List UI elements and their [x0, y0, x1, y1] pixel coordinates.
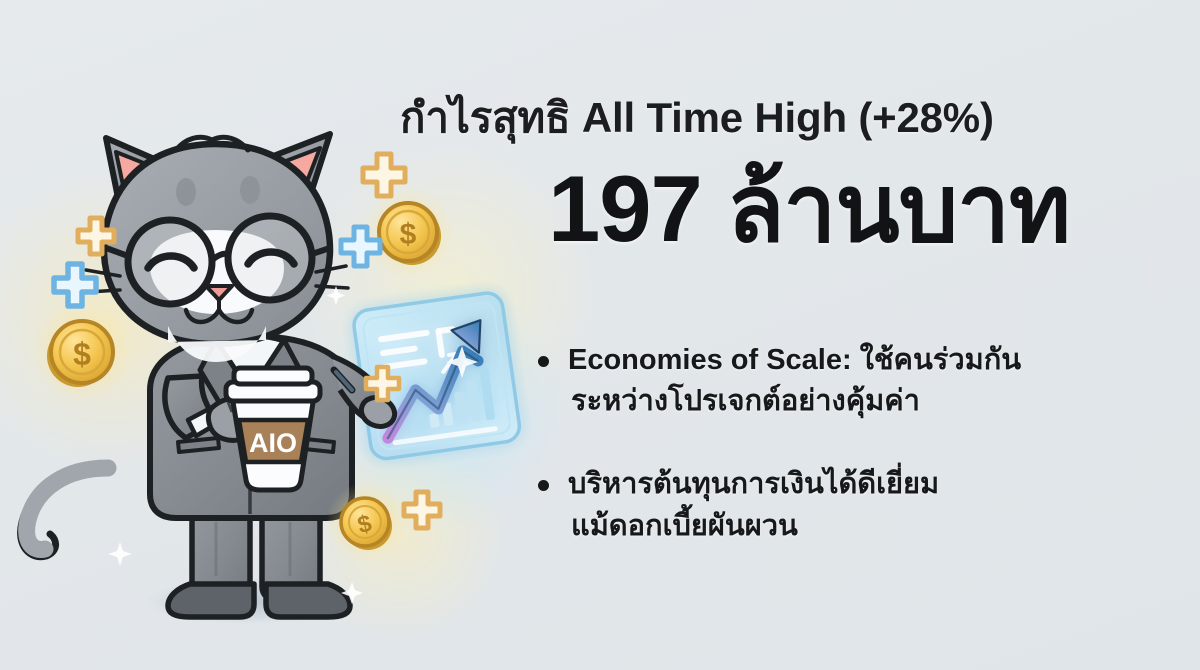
svg-text:$: $ [400, 218, 417, 251]
svg-text:$: $ [73, 336, 91, 372]
list-item: Economies of Scale: ใช้คนร่วมกัน ระหว่าง… [536, 340, 1166, 422]
bullet-line-1: บริหารต้นทุนการเงินได้ดีเยี่ยม [568, 464, 1166, 505]
bullet-list: Economies of Scale: ใช้คนร่วมกัน ระหว่าง… [536, 340, 1166, 547]
bullet-line-1: Economies of Scale: ใช้คนร่วมกัน [568, 340, 1166, 381]
page-title: กำไรสุทธิ All Time High (+28%) [400, 85, 1140, 151]
infographic-slide: AIO [0, 0, 1200, 670]
bullet-line-2: แม้ดอกเบี้ยผันผวน [568, 506, 1166, 547]
profit-figure: 197 ล้านบาท [548, 160, 1070, 259]
list-item: บริหารต้นทุนการเงินได้ดีเยี่ยม แม้ดอกเบี… [536, 464, 1166, 546]
bullet-dot-icon [538, 480, 549, 491]
business-cat-illustration: AIO [0, 90, 540, 670]
coin-dollar-icon-bottom: $ [326, 482, 406, 562]
coin-dollar-icon-top: $ [362, 186, 454, 278]
coin-dollar-icon-left: $ [32, 302, 132, 402]
cat-tail [27, 468, 108, 550]
coffee-cup-label: AIO [249, 428, 297, 458]
plus-sparkle-icon-gold-low [404, 492, 440, 528]
bullet-line-2: ระหว่างโปรเจกต์อย่างคุ้มค่า [568, 381, 1166, 422]
bullet-dot-icon [538, 356, 549, 367]
